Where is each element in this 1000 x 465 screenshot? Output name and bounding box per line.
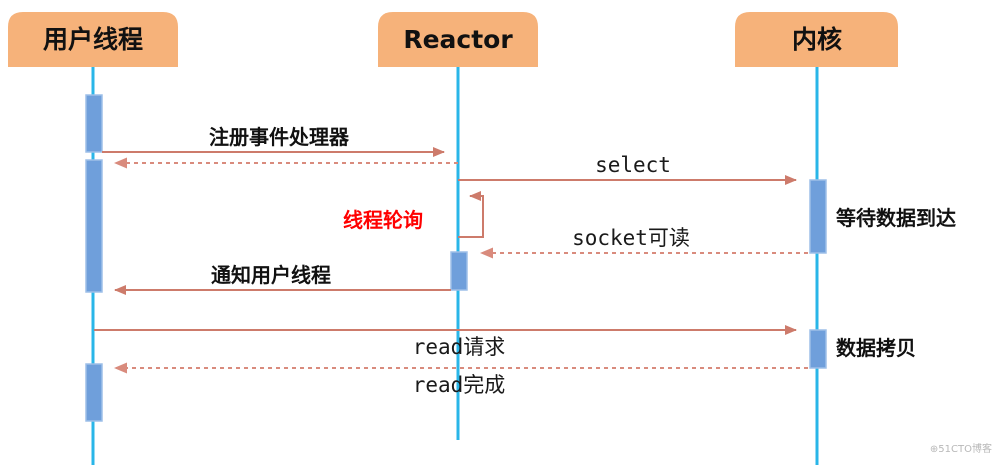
message-read-complete[interactable]: read完成: [115, 368, 808, 397]
message-read-request[interactable]: read请求: [94, 330, 796, 359]
note-label-waiting-data: 等待数据到达: [836, 206, 956, 230]
message-label-notify-user-thread: 通知用户线程: [211, 263, 331, 287]
note-label-data-copy: 数据拷贝: [836, 336, 916, 360]
participant-label-kernel: 内核: [792, 25, 842, 54]
message-label-select: select: [595, 153, 671, 177]
message-label-register-handler: 注册事件处理器: [209, 125, 350, 149]
message-socket-readable[interactable]: socket可读: [481, 226, 808, 253]
note-data-copy: 数据拷贝: [836, 336, 916, 360]
participant-label-reactor: Reactor: [403, 25, 513, 54]
activation-bar-kernel-2: [810, 330, 826, 368]
message-notify-user-thread[interactable]: 通知用户线程: [115, 263, 451, 290]
activation-bar-user-3: [86, 364, 102, 421]
activation-bar-kernel-1: [810, 180, 826, 253]
activation-bar-user-1: [86, 95, 102, 152]
participant-label-user-thread: 用户线程: [43, 25, 143, 54]
watermark-label: ⊕51CTO博客: [930, 442, 992, 455]
message-label-read-complete: read完成: [413, 373, 506, 397]
message-register-handler[interactable]: 注册事件处理器: [102, 125, 444, 152]
activation-bar-reactor-1: [451, 252, 467, 290]
sequence-diagram-canvas: 用户线程 Reactor 内核 注册事件处理器: [0, 0, 1000, 465]
note-waiting-data: 等待数据到达: [836, 206, 956, 230]
participant-user-thread[interactable]: 用户线程: [8, 12, 178, 67]
participant-kernel[interactable]: 内核: [735, 12, 898, 67]
message-arrow-thread-poll-loop: [458, 196, 483, 237]
participant-reactor[interactable]: Reactor: [378, 12, 538, 67]
sequence-diagram-svg: 用户线程 Reactor 内核 注册事件处理器: [0, 0, 1000, 465]
message-select[interactable]: select: [458, 153, 796, 180]
message-thread-poll-loop[interactable]: 线程轮询: [343, 196, 483, 237]
message-label-socket-readable: socket可读: [572, 226, 690, 250]
activation-bar-user-2: [86, 160, 102, 292]
message-label-read-request: read请求: [413, 335, 506, 359]
message-label-thread-poll-loop: 线程轮询: [343, 208, 423, 232]
